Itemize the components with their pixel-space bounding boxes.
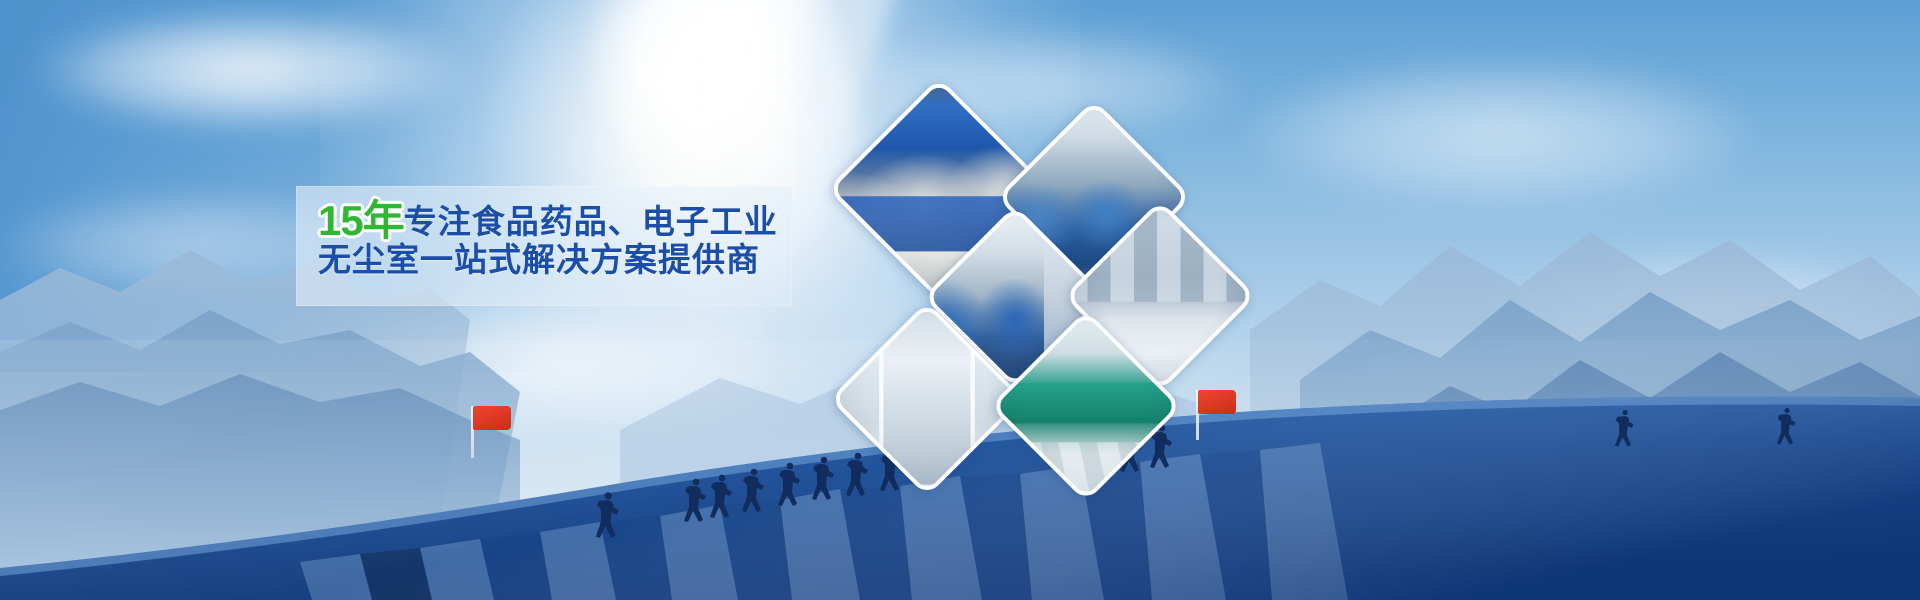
photo-collage [830,80,1290,480]
headline-line-1-text: 专注食品药品、电子工业 [404,203,778,240]
headline-line-2: 无尘室一站式解决方案提供商 [318,242,788,286]
summit-flag-left [471,406,513,458]
years-badge: 15年 [318,197,404,244]
flag-cloth [473,406,511,430]
hero-banner: 15年专注食品药品、电子工业 无尘室一站式解决方案提供商 [0,0,1920,600]
headline-line-2-text: 无尘室一站式解决方案提供商 [318,241,760,278]
headline: 15年专注食品药品、电子工业 无尘室一站式解决方案提供商 [318,198,788,286]
headline-line-1: 15年专注食品药品、电子工业 [318,198,788,242]
